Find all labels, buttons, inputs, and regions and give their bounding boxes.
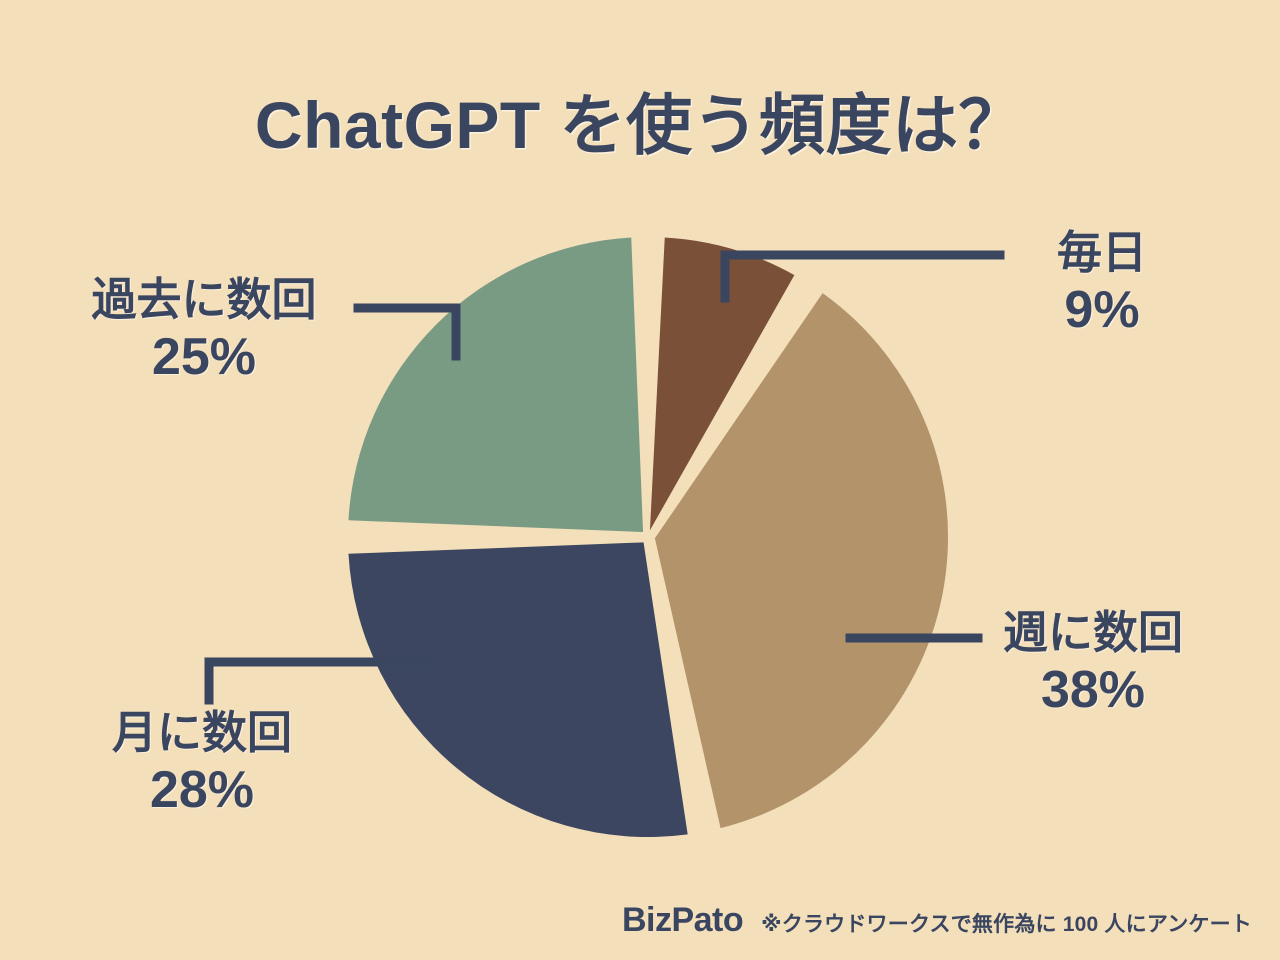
infographic-canvas: ChatGPT を使う頻度は？ 毎日 9%週に数回 38%月に数回 28%過去に… — [0, 0, 1280, 960]
footer-note: ※クラウドワークスで無作為に 100 人にアンケート — [761, 908, 1252, 938]
pie-slice-3[interactable]: 月に数回 28% — [348, 542, 687, 837]
pie-slice-4[interactable]: 過去に数回 25% — [348, 237, 643, 532]
footer: BizPato ※クラウドワークスで無作為に 100 人にアンケート — [622, 901, 1252, 940]
callout-daily-percent: 9% — [1012, 282, 1192, 339]
callout-past: 過去に数回 25% — [54, 275, 354, 386]
callout-weekly-category: 週に数回 — [988, 608, 1198, 658]
pie-slice-group: 毎日 9%週に数回 38%月に数回 28%過去に数回 25% — [348, 237, 948, 837]
callout-daily: 毎日 9% — [1012, 228, 1192, 339]
callout-monthly: 月に数回 28% — [82, 708, 322, 819]
callout-monthly-category: 月に数回 — [82, 708, 322, 758]
callout-past-percent: 25% — [54, 329, 354, 386]
brand-logo: BizPato — [622, 901, 743, 940]
callout-weekly-percent: 38% — [988, 662, 1198, 719]
callout-daily-category: 毎日 — [1012, 228, 1192, 278]
callout-weekly: 週に数回 38% — [988, 608, 1198, 719]
callout-monthly-percent: 28% — [82, 762, 322, 819]
callout-past-category: 過去に数回 — [54, 275, 354, 325]
